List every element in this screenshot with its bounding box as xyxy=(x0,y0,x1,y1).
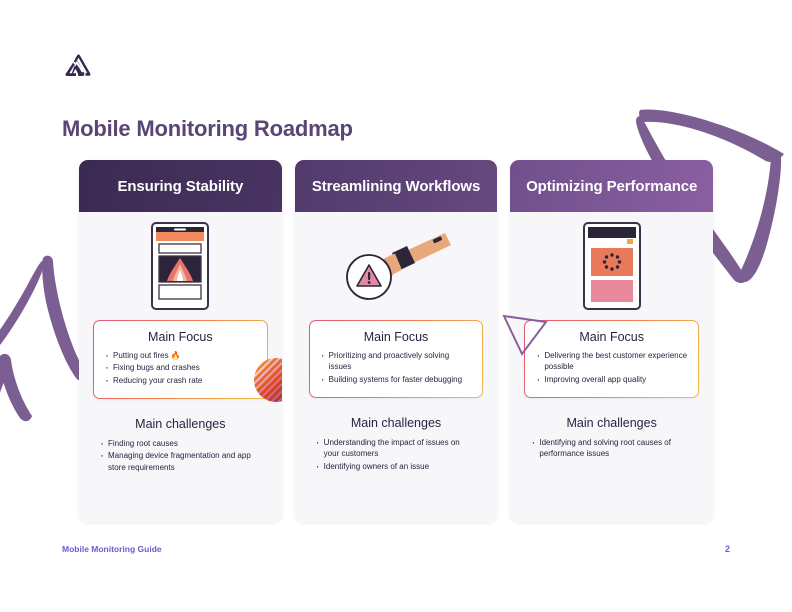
main-focus-title-1: Main Focus xyxy=(104,330,257,344)
main-challenges-list-3: Identifying and solving root causes of p… xyxy=(530,437,693,460)
list-item: Reducing your crash rate xyxy=(104,375,257,386)
main-challenges-list-2: Understanding the impact of issues on yo… xyxy=(315,437,478,472)
card-ensuring-stability[interactable]: Ensuring Stability Main Focus xyxy=(79,160,282,522)
slide: Mobile Monitoring Roadmap Ensuring Stabi… xyxy=(0,0,792,612)
list-item: Identifying and solving root causes of p… xyxy=(530,437,693,460)
main-challenges-title-3: Main challenges xyxy=(530,416,693,430)
focus-wrap-3: Main Focus Delivering the best customer … xyxy=(510,320,713,398)
list-item: Delivering the best customer experience … xyxy=(535,350,688,373)
illustration-flashlight-warning xyxy=(295,212,498,320)
list-item: Managing device fragmentation and app st… xyxy=(99,450,262,473)
challenges-3: Main challenges Identifying and solving … xyxy=(510,398,713,461)
page-title: Mobile Monitoring Roadmap xyxy=(62,116,353,142)
main-focus-title-3: Main Focus xyxy=(535,330,688,344)
footer-label: Mobile Monitoring Guide xyxy=(62,544,162,554)
main-focus-box-3: Main Focus Delivering the best customer … xyxy=(524,320,699,398)
list-item: Prioritizing and proactively solving iss… xyxy=(320,350,473,373)
sentry-logo-icon xyxy=(62,50,94,82)
list-item: Finding root causes xyxy=(99,438,262,449)
main-focus-list-3: Delivering the best customer experience … xyxy=(535,350,688,385)
card-header-3: Optimizing Performance xyxy=(510,160,713,212)
page-number: 2 xyxy=(725,544,730,554)
challenges-1: Main challenges Finding root causes Mana… xyxy=(79,399,282,474)
card-header-2: Streamlining Workflows xyxy=(295,160,498,212)
main-focus-list-1: Putting out fires 🔥 Fixing bugs and cras… xyxy=(104,350,257,386)
list-item: Improving overall app quality xyxy=(535,374,688,385)
main-challenges-list-1: Finding root causes Managing device frag… xyxy=(99,438,262,473)
list-item: Identifying owners of an issue xyxy=(315,461,478,472)
card-optimizing-performance[interactable]: Optimizing Performance xyxy=(510,160,713,522)
card-streamlining-workflows[interactable]: Streamlining Workflows xyxy=(295,160,498,522)
main-focus-list-2: Prioritizing and proactively solving iss… xyxy=(320,350,473,385)
main-challenges-title-1: Main challenges xyxy=(99,417,262,431)
challenges-2: Main challenges Understanding the impact… xyxy=(295,398,498,473)
main-challenges-title-2: Main challenges xyxy=(315,416,478,430)
cards-row: Ensuring Stability Main Focus xyxy=(79,160,713,522)
focus-wrap-2: Main Focus Prioritizing and proactively … xyxy=(295,320,498,398)
list-item: Understanding the impact of issues on yo… xyxy=(315,437,478,460)
striped-gradient-circle-icon xyxy=(254,358,282,402)
card-header-1: Ensuring Stability xyxy=(79,160,282,212)
main-focus-box-2: Main Focus Prioritizing and proactively … xyxy=(309,320,484,398)
list-item: Building systems for faster debugging xyxy=(320,374,473,385)
main-focus-title-2: Main Focus xyxy=(320,330,473,344)
list-item: Putting out fires 🔥 xyxy=(104,350,257,361)
list-item: Fixing bugs and crashes xyxy=(104,362,257,373)
illustration-phone-with-fire xyxy=(79,212,282,320)
main-focus-box-1: Main Focus Putting out fires 🔥 Fixing bu… xyxy=(93,320,268,399)
focus-wrap-1: Main Focus Putting out fires 🔥 Fixing bu… xyxy=(79,320,282,399)
illustration-phone-with-spinner xyxy=(510,212,713,320)
